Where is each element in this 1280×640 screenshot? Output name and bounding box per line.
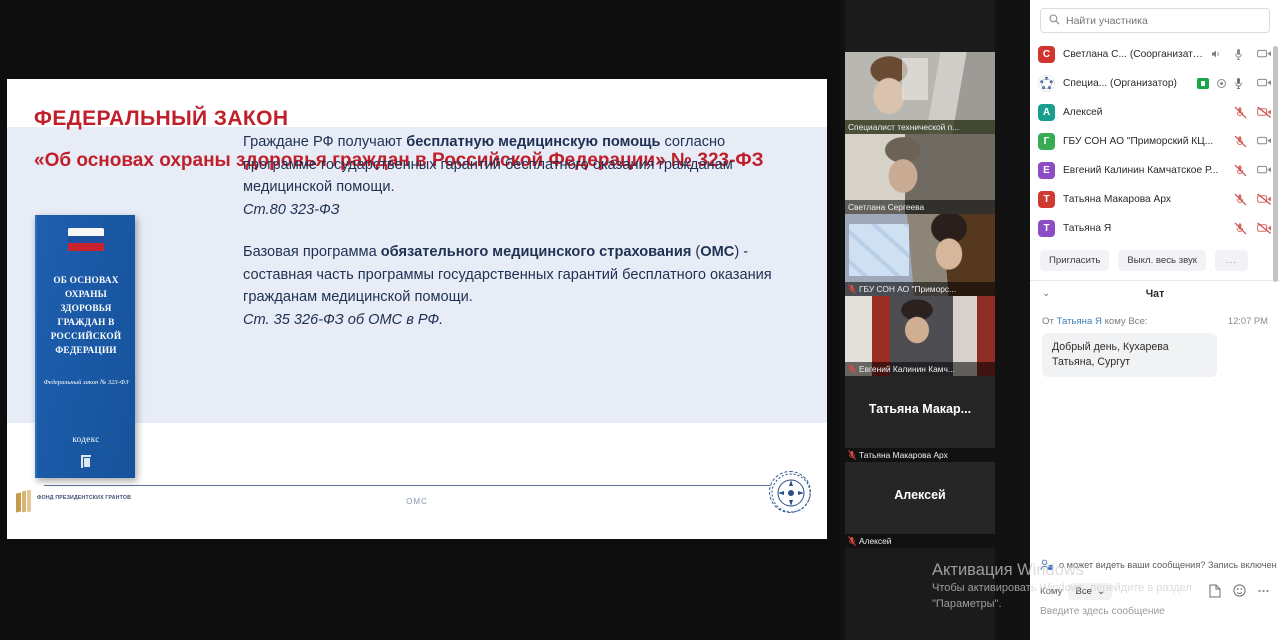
mic-muted-icon (848, 364, 856, 374)
video-tile-name: Светлана Сергеева (845, 200, 995, 214)
chat-toolbar: Кому Все ⌄ (1030, 576, 1280, 606)
video-filmstrip[interactable]: Специалист технической п... Светлана Сер… (845, 0, 995, 640)
recording-indicator-icon (1217, 79, 1226, 88)
ellipsis-icon[interactable] (1257, 584, 1270, 598)
mic-muted-icon (848, 284, 856, 294)
video-tile[interactable]: Специалист технической п... (845, 52, 995, 134)
person-info-icon (1040, 559, 1054, 571)
slide-paragraph-2: Базовая программа обязательного медицинс… (243, 241, 803, 309)
avatar: Т (1038, 220, 1055, 237)
chat-privacy-notice: о может видеть ваши сообщения? Запись вк… (1030, 554, 1280, 576)
search-icon (1049, 12, 1060, 30)
participant-row[interactable]: Г ГБУ СОН АО "Приморский КЦ... (1030, 127, 1280, 156)
microphone-icon[interactable] (1234, 77, 1249, 90)
participant-row[interactable]: Специа... (Организатор) (1030, 69, 1280, 98)
video-tile[interactable]: Светлана Сергеева (845, 134, 995, 214)
slide-paragraph-1-ref: Ст.80 323-ФЗ (243, 199, 803, 222)
avatar: Г (1038, 133, 1055, 150)
camera-off-icon[interactable] (1257, 106, 1272, 119)
camera-icon[interactable] (1257, 77, 1272, 90)
mic-muted-icon (848, 536, 856, 546)
chat-composer[interactable]: Введите здесь сообщение (1030, 606, 1280, 640)
video-tile-name: Татьяна Макарова Арх (845, 448, 995, 462)
participant-row[interactable]: Т Татьяна Макарова Арх (1030, 185, 1280, 214)
chat-message-sender: От Татьяна Я кому Все: (1042, 316, 1148, 327)
chat-recipient-dropdown[interactable]: Все ⌄ (1068, 583, 1112, 600)
slide-paragraph-1: Граждане РФ получают бесплатную медицинс… (243, 131, 803, 199)
participant-name: Татьяна Я (1063, 223, 1226, 234)
chat-header[interactable]: ⌄ Чат (1030, 281, 1280, 307)
participant-row[interactable]: А Алексей (1030, 98, 1280, 127)
search-input[interactable] (1066, 15, 1261, 27)
chevron-down-icon[interactable]: ⌄ (1042, 288, 1050, 299)
video-tile-display-name: Алексей (845, 488, 995, 502)
law-book-cover-image: ОБ ОСНОВАХ ОХРАНЫ ЗДОРОВЬЯ ГРАЖДАН В РОС… (35, 215, 135, 478)
mic-muted-icon[interactable] (1234, 135, 1249, 148)
chat-messages: От Татьяна Я кому Все: 12:07 PM Добрый д… (1030, 307, 1280, 377)
participant-name: ГБУ СОН АО "Приморский КЦ... (1063, 136, 1226, 147)
book-publisher-label: кодекс (37, 434, 135, 444)
russian-flag-icon (68, 228, 104, 251)
chat-composer-placeholder: Введите здесь сообщение (1040, 606, 1165, 617)
camera-icon[interactable] (1257, 164, 1272, 177)
participant-row[interactable]: Т Татьяна Я (1030, 214, 1280, 243)
video-tile-name: Специалист технической п... (845, 120, 995, 134)
camera-icon[interactable] (1257, 135, 1272, 148)
video-tile-name: Евгений Калинин Камч... (845, 362, 995, 376)
invite-button[interactable]: Пригласить (1040, 250, 1109, 271)
chat-message-time: 12:07 PM (1228, 315, 1268, 326)
mute-all-button[interactable]: Выкл. весь звук (1118, 250, 1206, 271)
book-cover-title: ОБ ОСНОВАХ ОХРАНЫ ЗДОРОВЬЯ ГРАЖДАН В РОС… (43, 274, 129, 358)
video-tile[interactable]: Татьяна Макар... Татьяна Макарова Арх (845, 376, 995, 462)
slide-footer-divider (44, 485, 797, 486)
camera-icon[interactable] (1257, 48, 1272, 61)
video-tile-name: ГБУ СОН АО "Приморс... (845, 282, 995, 296)
microphone-icon[interactable] (1234, 48, 1249, 61)
video-tile-display-name: Татьяна Макар... (845, 402, 995, 416)
avatar (1038, 75, 1055, 92)
participants-list: С Светлана С... (Соорганизатор, я) Специ… (1030, 40, 1280, 243)
side-panel: С Светлана С... (Соорганизатор, я) Специ… (1030, 0, 1280, 640)
avatar: Т (1038, 191, 1055, 208)
video-tile[interactable]: Евгений Калинин Камч... (845, 296, 995, 376)
slide-body-text: Граждане РФ получают бесплатную медицинс… (243, 131, 803, 331)
shared-screen-stage[interactable]: ФЕДЕРАЛЬНЫЙ ЗАКОН «Об основах охраны здо… (0, 0, 840, 640)
participant-name: Евгений Калинин Камчатское Р... (1063, 165, 1226, 176)
chat-title: Чат (1146, 288, 1165, 300)
zoom-meeting-window: ФЕДЕРАЛЬНЫЙ ЗАКОН «Об основах охраны здо… (0, 0, 1280, 640)
avatar: А (1038, 104, 1055, 121)
chat-footer: о может видеть ваши сообщения? Запись вк… (1030, 554, 1280, 640)
camera-off-icon[interactable] (1257, 193, 1272, 206)
book-publisher-mark-icon (81, 455, 91, 468)
camera-off-icon[interactable] (1257, 222, 1272, 235)
participant-name: Специа... (Организатор) (1063, 78, 1189, 89)
participant-name: Алексей (1063, 107, 1226, 118)
chat-privacy-text: о может видеть ваши сообщения? Запись вк… (1059, 560, 1277, 570)
slide-title-line1: ФЕДЕРАЛЬНЫЙ ЗАКОН (34, 107, 288, 131)
slide-paragraph-2-ref: Ст. 35 326-ФЗ об ОМС в РФ. (243, 309, 803, 332)
participant-name: Татьяна Макарова Арх (1063, 194, 1226, 205)
chat-message-bubble: Добрый день, Кухарева Татьяна, Сургут (1042, 333, 1217, 377)
mic-muted-icon[interactable] (1234, 193, 1249, 206)
video-tile[interactable]: ГБУ СОН АО "Приморс... (845, 214, 995, 296)
mic-muted-icon (848, 450, 856, 460)
more-options-button[interactable]: ... (1215, 250, 1248, 271)
avatar: Е (1038, 162, 1055, 179)
participants-search-area (1030, 0, 1280, 33)
chat-to-label: Кому (1040, 586, 1062, 597)
chevron-down-icon: ⌄ (1097, 586, 1105, 597)
file-icon[interactable] (1209, 584, 1222, 598)
organization-emblem-icon (769, 471, 811, 513)
chat-message-meta: От Татьяна Я кому Все: 12:07 PM (1042, 315, 1268, 327)
avatar: С (1038, 46, 1055, 63)
emoji-icon[interactable] (1233, 584, 1246, 598)
slide-footer-center-label: ОМС (7, 497, 827, 506)
screen-share-badge-icon (1197, 78, 1209, 89)
participants-scrollbar[interactable] (1273, 46, 1278, 282)
participant-actions-bar: Пригласить Выкл. весь звук ... (1030, 243, 1280, 280)
mic-muted-icon[interactable] (1234, 164, 1249, 177)
participant-row[interactable]: С Светлана С... (Соорганизатор, я) (1030, 40, 1280, 69)
mic-muted-icon[interactable] (1234, 222, 1249, 235)
video-tile[interactable]: Алексей Алексей (845, 462, 995, 548)
participant-row[interactable]: Е Евгений Калинин Камчатское Р... (1030, 156, 1280, 185)
book-cover-subtitle: Федеральный закон № 323-ФЗ (43, 378, 129, 388)
mic-muted-icon[interactable] (1234, 106, 1249, 119)
search-field-wrapper[interactable] (1040, 8, 1270, 33)
speaker-icon[interactable] (1211, 48, 1226, 61)
presentation-slide: ФЕДЕРАЛЬНЫЙ ЗАКОН «Об основах охраны здо… (7, 79, 827, 539)
video-tile-name: Алексей (845, 534, 995, 548)
chat-tool-icons (1209, 584, 1270, 598)
participant-name: Светлана С... (Соорганизатор, я) (1063, 49, 1203, 60)
chat-recipient-value: Все (1075, 586, 1092, 597)
